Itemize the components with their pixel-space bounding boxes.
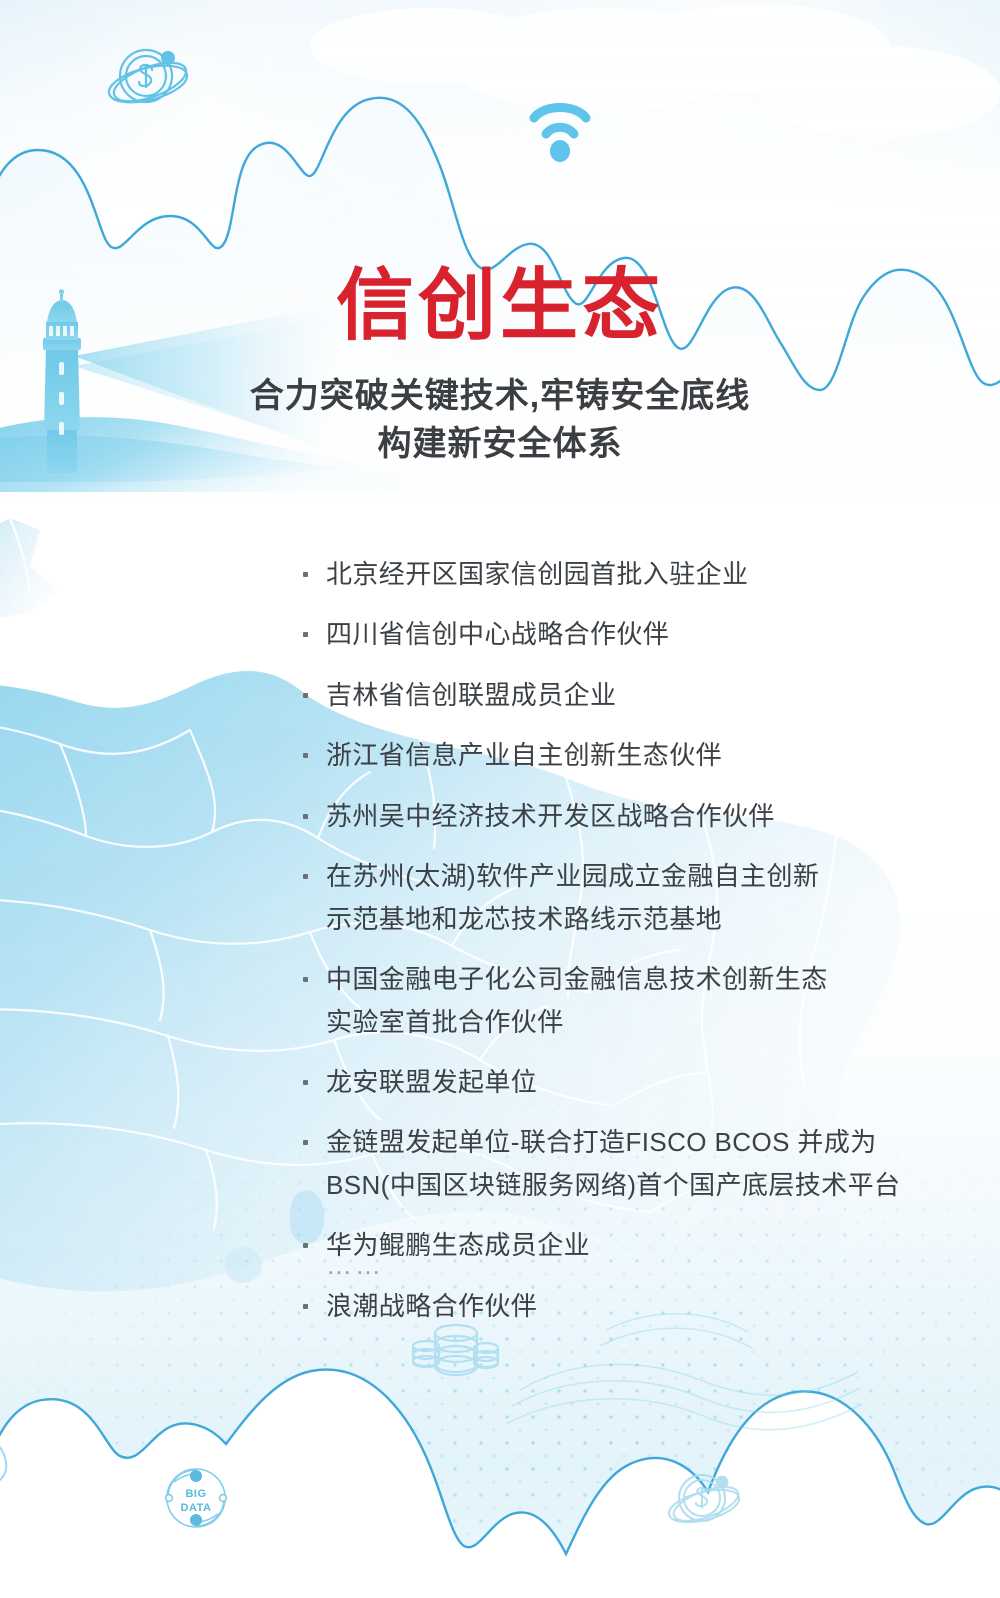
- poster-canvas: BIG DATA 信创生态 合力突破关键技术,牢铸安全底线 构建新安全体系 北京…: [0, 0, 1000, 1598]
- list-item: 苏州吴中经济技术开发区战略合作伙伴: [300, 798, 960, 835]
- list-item: 浙江省信息产业自主创新生态伙伴: [300, 737, 960, 774]
- list-item: 在苏州(太湖)软件产业园成立金融自主创新示范基地和龙芯技术路线示范基地: [300, 858, 960, 938]
- subtitle-line-1: 合力突破关键技术,牢铸安全底线: [0, 372, 1000, 420]
- list-item-line: 吉林省信创联盟成员企业: [326, 677, 960, 714]
- headline-block: 信创生态 合力突破关键技术,牢铸安全底线 构建新安全体系: [0, 266, 1000, 469]
- bullet-marker: [303, 632, 308, 637]
- list-item: 龙安联盟发起单位: [300, 1064, 960, 1101]
- poster-content: 信创生态 合力突破关键技术,牢铸安全底线 构建新安全体系 北京经开区国家信创园首…: [0, 0, 1000, 1598]
- list-item-line: BSN(中国区块链服务网络)首个国产底层技术平台: [326, 1167, 960, 1204]
- page-title: 信创生态: [0, 266, 1000, 344]
- list-item-line: 在苏州(太湖)软件产业园成立金融自主创新: [326, 858, 960, 895]
- list-item-line: 北京经开区国家信创园首批入驻企业: [326, 556, 960, 593]
- bullet-marker: [303, 693, 308, 698]
- list-item: 四川省信创中心战略合作伙伴: [300, 616, 960, 653]
- list-item-line: 四川省信创中心战略合作伙伴: [326, 616, 960, 653]
- bullet-marker: [303, 753, 308, 758]
- bullet-marker: [303, 814, 308, 819]
- list-item-line: 龙安联盟发起单位: [326, 1064, 960, 1101]
- list-item-line: 浪潮战略合作伙伴: [326, 1288, 960, 1325]
- list-item: 吉林省信创联盟成员企业: [300, 677, 960, 714]
- list-ellipsis: ……: [326, 1250, 384, 1281]
- list-item: 北京经开区国家信创园首批入驻企业: [300, 556, 960, 593]
- bullet-marker: [303, 874, 308, 879]
- list-item-line: 金链盟发起单位-联合打造FISCO BCOS 并成为: [326, 1124, 960, 1161]
- page-subtitle: 合力突破关键技术,牢铸安全底线 构建新安全体系: [0, 372, 1000, 469]
- subtitle-line-2: 构建新安全体系: [0, 420, 1000, 468]
- list-item-line: 实验室首批合作伙伴: [326, 1004, 960, 1041]
- bullet-marker: [303, 1243, 308, 1248]
- list-item: 中国金融电子化公司金融信息技术创新生态实验室首批合作伙伴: [300, 961, 960, 1041]
- list-item-line: 苏州吴中经济技术开发区战略合作伙伴: [326, 798, 960, 835]
- bullet-marker: [303, 977, 308, 982]
- bullet-marker: [303, 1080, 308, 1085]
- bullet-marker: [303, 1304, 308, 1309]
- bullet-marker: [303, 1140, 308, 1145]
- bullet-marker: [303, 572, 308, 577]
- list-item-line: 华为鲲鹏生态成员企业: [326, 1227, 960, 1264]
- list-item-line: 浙江省信息产业自主创新生态伙伴: [326, 737, 960, 774]
- list-item: 浪潮战略合作伙伴: [300, 1288, 960, 1325]
- list-item: 金链盟发起单位-联合打造FISCO BCOS 并成为BSN(中国区块链服务网络)…: [300, 1124, 960, 1204]
- list-item: 华为鲲鹏生态成员企业: [300, 1227, 960, 1264]
- ecosystem-list: 北京经开区国家信创园首批入驻企业四川省信创中心战略合作伙伴吉林省信创联盟成员企业…: [300, 556, 960, 1348]
- list-item-line: 示范基地和龙芯技术路线示范基地: [326, 901, 960, 938]
- list-item-line: 中国金融电子化公司金融信息技术创新生态: [326, 961, 960, 998]
